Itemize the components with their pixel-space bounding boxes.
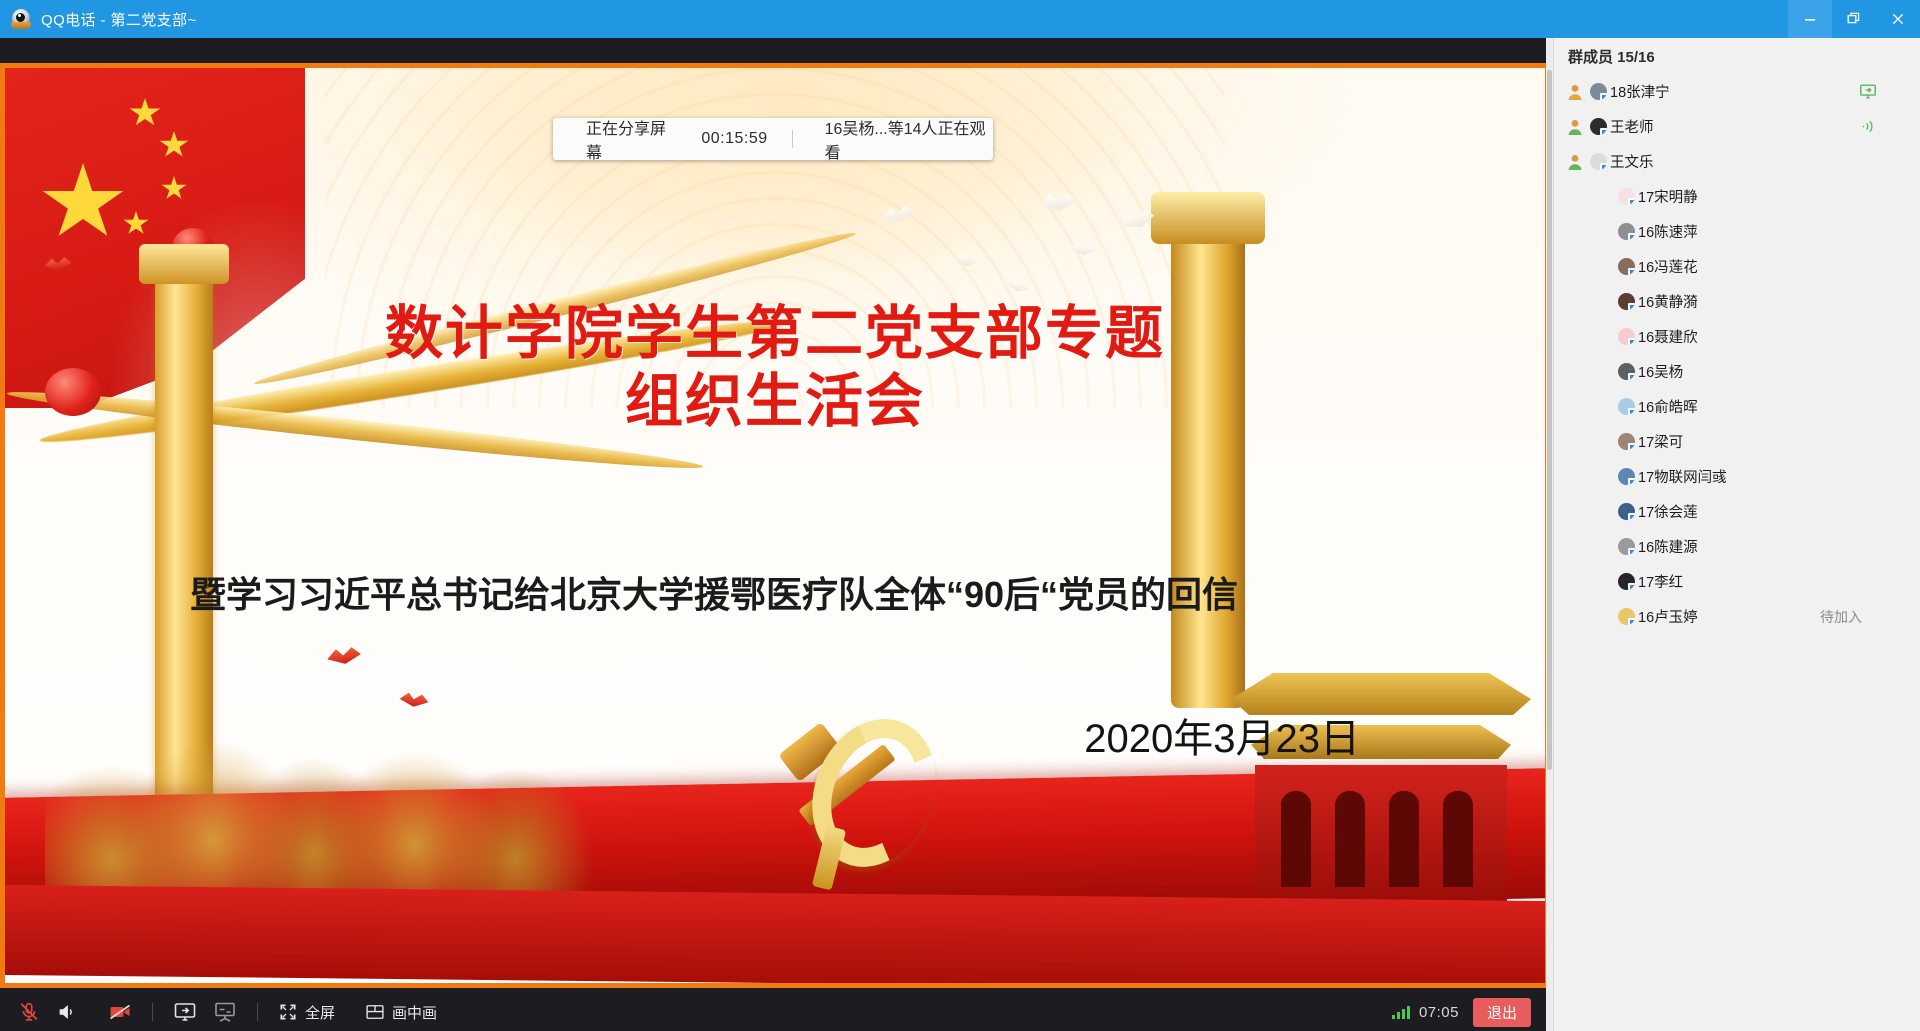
avatar [1618, 608, 1635, 625]
member-row[interactable]: 18张津宁 [1554, 74, 1920, 109]
slide-title: 数计学院学生第二党支部专题 组织生活会 [5, 300, 1545, 437]
member-name: 16冯莲花 [1638, 256, 1698, 277]
member-row[interactable]: 17物联网闫彧 [1554, 459, 1920, 494]
signal-bars-icon [1392, 1005, 1410, 1019]
divider [257, 1003, 258, 1021]
flag-star-icon [161, 176, 187, 201]
member-row[interactable]: 16俞皓晖 [1554, 389, 1920, 424]
picture-in-picture-button[interactable]: 画中画 [357, 993, 445, 1031]
flag-star-icon [129, 98, 161, 128]
member-row[interactable]: 16冯莲花 [1554, 249, 1920, 284]
divider [792, 130, 793, 148]
member-row[interactable]: 17宋明静 [1554, 179, 1920, 214]
shared-slide: 数计学院学生第二党支部专题 组织生活会 暨学习习近平总书记给北京大学援鄂医疗队全… [5, 68, 1545, 983]
avatar [1590, 83, 1607, 100]
toolbar-right-group: 07:05 退出 [1392, 993, 1531, 1031]
screen-share-icon [1858, 82, 1878, 106]
member-row[interactable]: 16陈速萍 [1554, 214, 1920, 249]
member-row[interactable]: 17梁可 [1554, 424, 1920, 459]
member-name: 16俞皓晖 [1638, 396, 1698, 417]
red-banner-decoration [5, 884, 1545, 983]
flag-star-icon [159, 131, 189, 159]
member-name: 16聂建欣 [1638, 326, 1698, 347]
member-name: 17宋明静 [1638, 186, 1698, 207]
avatar [1618, 188, 1635, 205]
share-elapsed-time: 00:15:59 [701, 130, 767, 148]
flag-star-icon [41, 163, 125, 243]
member-row[interactable]: 16黄静漪 [1554, 284, 1920, 319]
speaking-icon [1858, 118, 1878, 140]
call-toolbar: 全屏 画中画 07:05 退出 [0, 993, 1553, 1031]
member-row[interactable]: 王文乐 [1554, 144, 1920, 179]
in-call-person-icon [1566, 118, 1584, 136]
member-list: 18张津宁王老师王文乐17宋明静16陈速萍16冯莲花16黄静漪16聂建欣16吴杨… [1554, 74, 1920, 634]
camera-off-icon[interactable] [100, 993, 140, 1031]
fullscreen-button[interactable]: 全屏 [270, 993, 343, 1031]
call-timer: 07:05 [1419, 1004, 1459, 1021]
avatar [1618, 433, 1635, 450]
avatar [1618, 223, 1635, 240]
scrollbar-thumb[interactable] [1547, 70, 1552, 770]
member-name: 16陈速萍 [1638, 221, 1698, 242]
video-stage: 数计学院学生第二党支部专题 组织生活会 暨学习习近平总书记给北京大学援鄂医疗队全… [0, 38, 1553, 993]
members-panel: 群成员 15/16 18张津宁王老师王文乐17宋明静16陈速萍16冯莲花16黄静… [1553, 38, 1920, 1031]
member-name: 17梁可 [1638, 431, 1683, 452]
close-icon[interactable] [1876, 0, 1920, 38]
member-name: 17徐会莲 [1638, 501, 1698, 522]
member-name: 16吴杨 [1638, 361, 1683, 382]
avatar [1590, 118, 1607, 135]
minimize-icon[interactable] [1788, 0, 1832, 38]
avatar [1618, 503, 1635, 520]
avatar [1618, 468, 1635, 485]
member-name: 王老师 [1610, 116, 1654, 137]
member-row[interactable]: 17徐会莲 [1554, 494, 1920, 529]
avatar [1618, 398, 1635, 415]
member-name: 16黄静漪 [1638, 291, 1698, 312]
avatar [1618, 538, 1635, 555]
pip-label: 画中画 [392, 1002, 437, 1023]
shared-screen-frame: 数计学院学生第二党支部专题 组织生活会 暨学习习近平总书记给北京大学援鄂医疗队全… [0, 63, 1550, 988]
window-title: QQ电话 - 第二党支部~ [41, 9, 197, 30]
member-name: 17李红 [1638, 571, 1683, 592]
in-call-person-icon [1566, 83, 1584, 101]
panel-scrollbar[interactable] [1546, 38, 1553, 1031]
microphone-muted-icon[interactable] [10, 993, 48, 1031]
in-call-person-icon [1566, 153, 1584, 171]
speaker-icon[interactable] [48, 993, 86, 1031]
member-name: 王文乐 [1610, 151, 1654, 172]
avatar [1590, 153, 1607, 170]
fullscreen-label: 全屏 [305, 1002, 335, 1023]
divider [152, 1003, 153, 1021]
member-name: 18张津宁 [1610, 81, 1670, 102]
share-status-label: 正在分享屏幕 [586, 115, 677, 163]
member-name: 16陈建源 [1638, 536, 1698, 557]
member-row[interactable]: 16吴杨 [1554, 354, 1920, 389]
slide-title-line2: 组织生活会 [5, 368, 1545, 436]
member-row[interactable]: 16聂建欣 [1554, 319, 1920, 354]
slide-date: 2020年3月23日 [5, 706, 1360, 764]
avatar [1618, 293, 1635, 310]
slide-title-line1: 数计学院学生第二党支部专题 [5, 300, 1545, 368]
exit-button[interactable]: 退出 [1473, 998, 1531, 1027]
screen-share-status-bar: 正在分享屏幕 00:15:59 16吴杨...等14人正在观看 [553, 118, 993, 160]
member-row[interactable]: 16卢玉婷待加入 [1554, 599, 1920, 634]
member-name: 17物联网闫彧 [1638, 466, 1727, 487]
member-status-badge: 待加入 [1820, 607, 1862, 627]
share-watchers-label: 16吴杨...等14人正在观看 [825, 115, 993, 163]
window-titlebar: QQ电话 - 第二党支部~ [0, 0, 1920, 38]
avatar [1618, 573, 1635, 590]
avatar [1618, 328, 1635, 345]
flag-star-icon [123, 211, 149, 236]
member-row[interactable]: 16陈建源 [1554, 529, 1920, 564]
slide-subtitle: 暨学习习近平总书记给北京大学援鄂医疗队全体“90后“党员的回信 [190, 566, 1340, 618]
avatar [1618, 258, 1635, 275]
member-row[interactable]: 王老师 [1554, 109, 1920, 144]
whiteboard-icon[interactable] [205, 993, 245, 1031]
members-panel-header: 群成员 15/16 [1554, 38, 1920, 74]
qq-penguin-icon [10, 8, 32, 30]
share-screen-icon[interactable] [165, 993, 205, 1031]
member-row[interactable]: 17李红 [1554, 564, 1920, 599]
member-name: 16卢玉婷 [1638, 606, 1698, 627]
avatar [1618, 363, 1635, 380]
restore-icon[interactable] [1832, 0, 1876, 38]
window-controls [1788, 0, 1920, 38]
